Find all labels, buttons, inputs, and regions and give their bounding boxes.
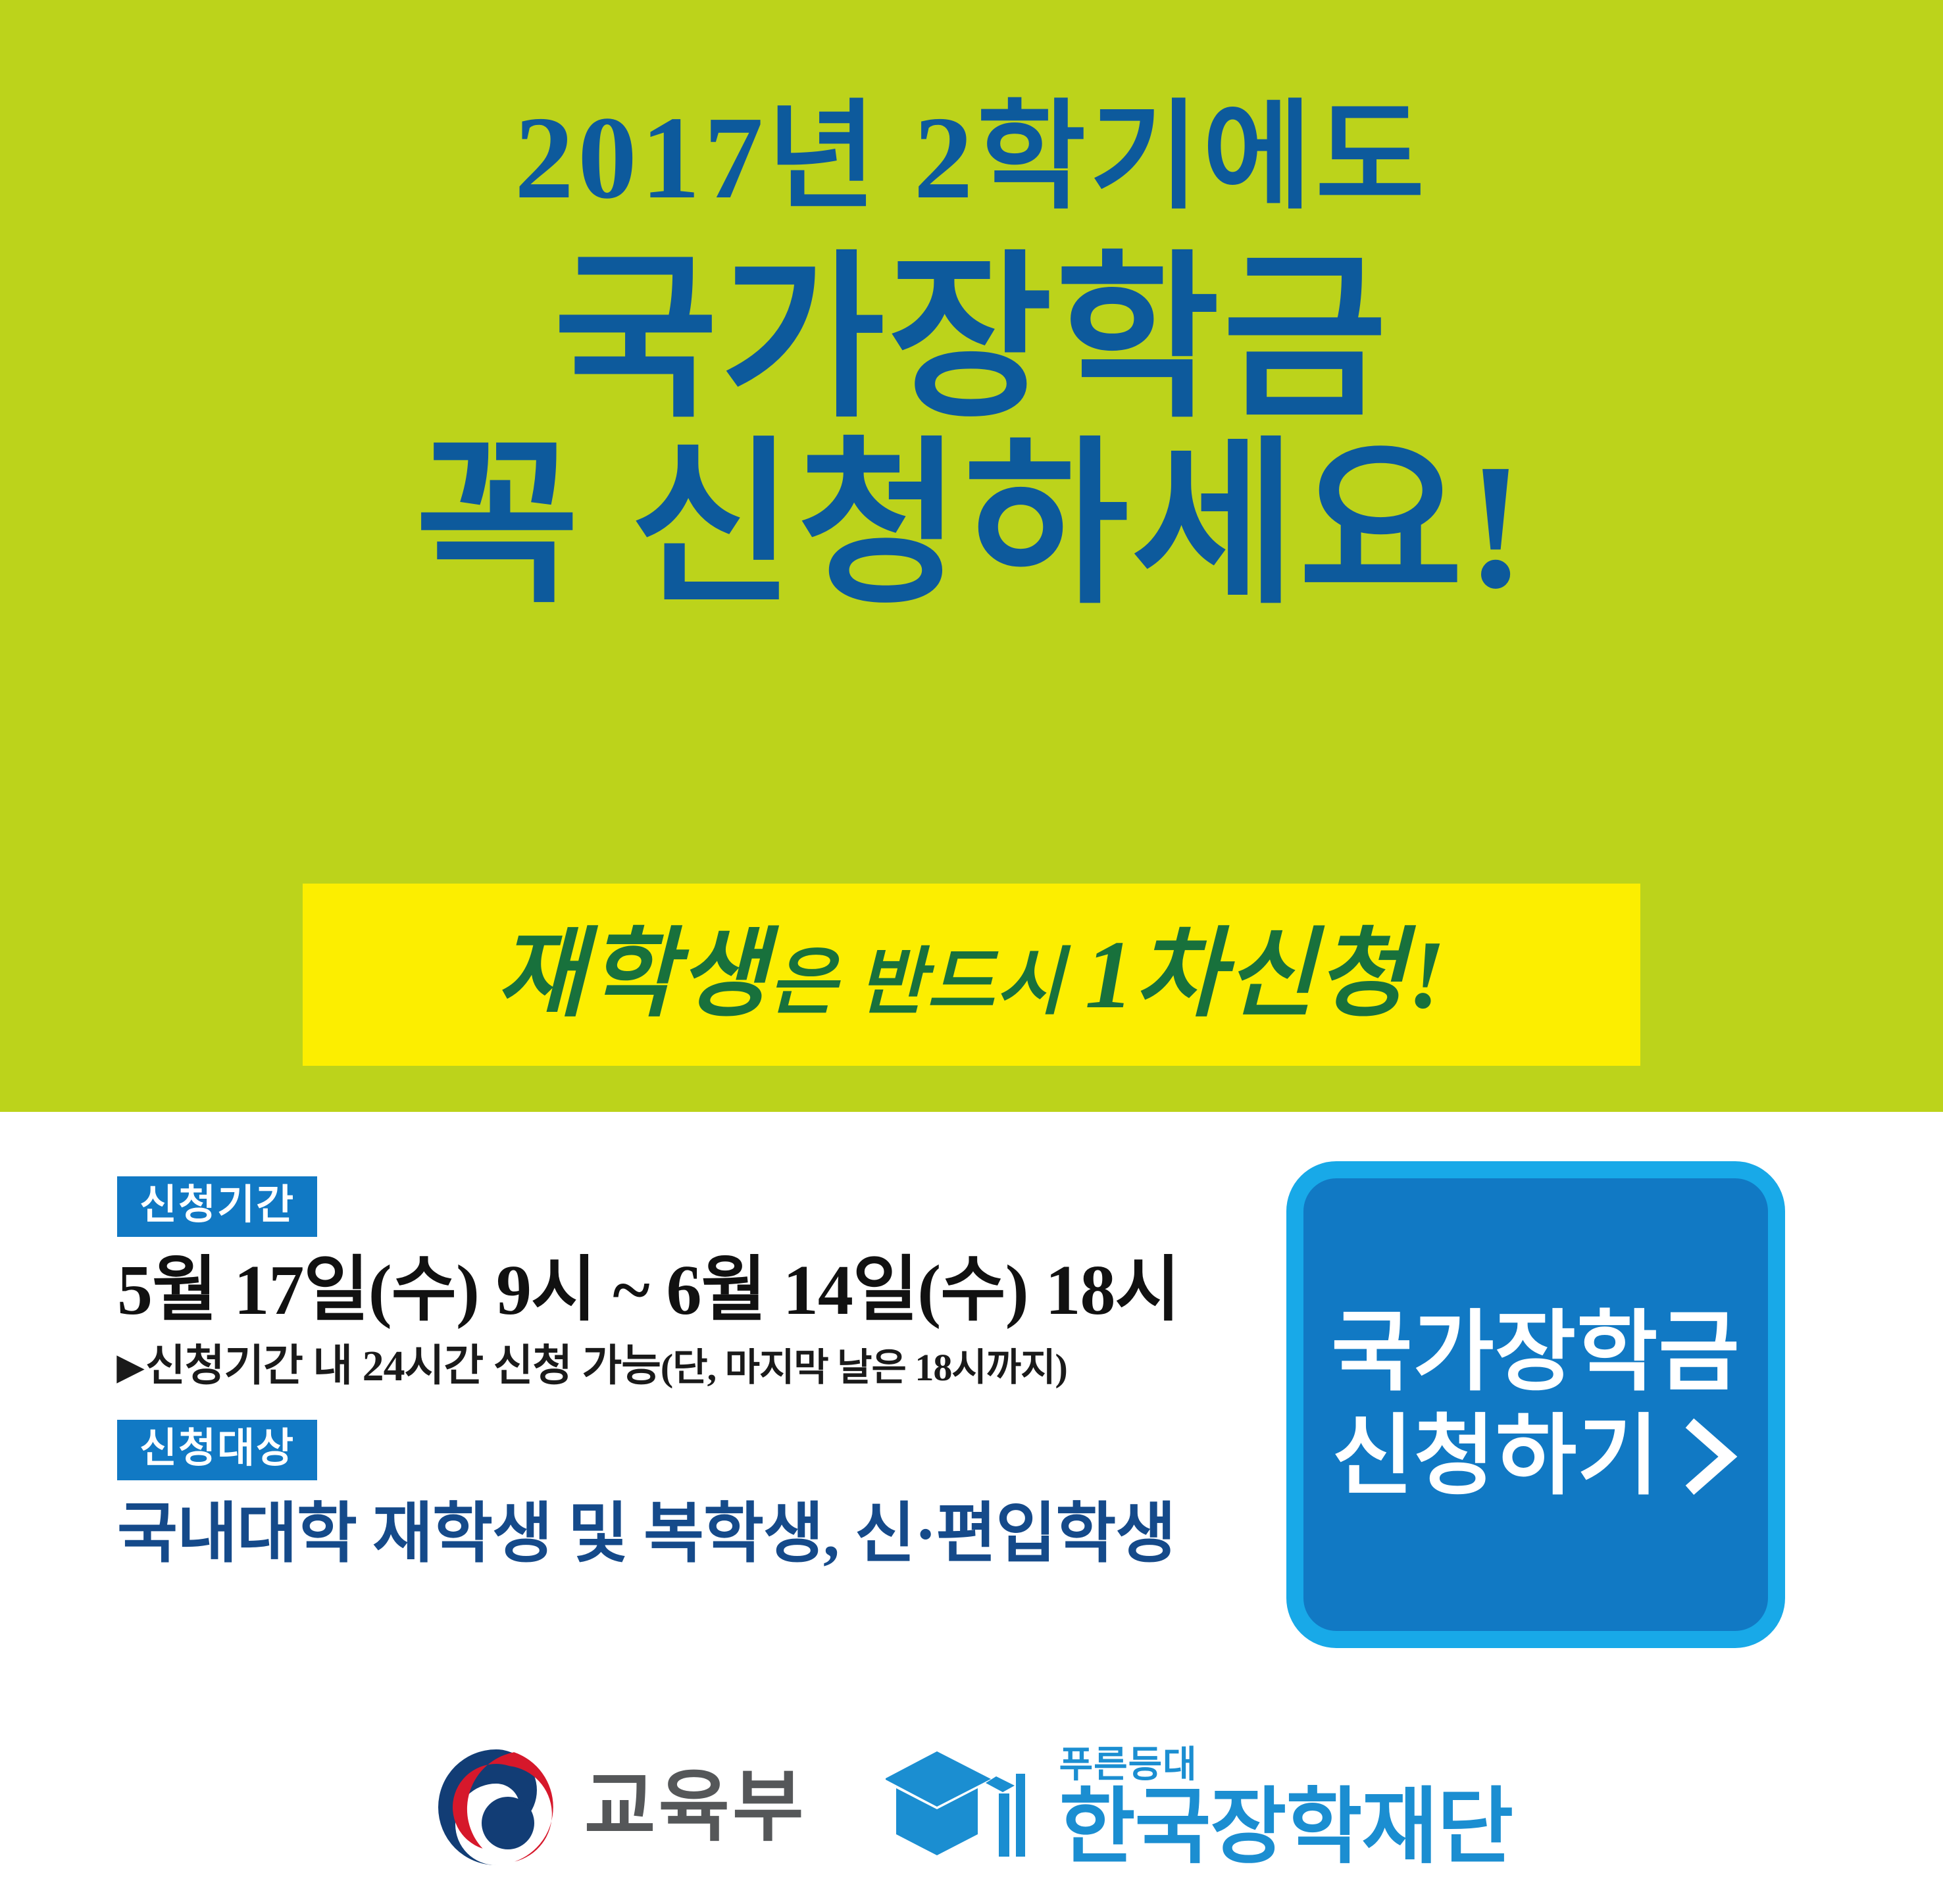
korea-government-taegeuk-icon [430, 1741, 562, 1873]
period-note-main: 신청기간 내 24시간 신청 가능 [145, 1342, 661, 1390]
hero-headline-scholarship: 국가장학금 [553, 249, 1390, 431]
period-note-parenthetical: (단, 마지막 날은 18시까지) [661, 1346, 1067, 1389]
kosaf-logo: 푸른등대 한국장학재단 [886, 1745, 1513, 1870]
application-target-badge: 신청대상 [117, 1420, 317, 1480]
application-target-value: 국내대학 재학생 및 복학생, 신·편입학생 [117, 1496, 1275, 1572]
highlight-part-must: 반드시 [838, 942, 1085, 1024]
bullet-arrow-icon: ▶ [117, 1349, 143, 1386]
cta-label-scholarship: 국가장학금 [1331, 1301, 1740, 1405]
hero-green-panel: 2017년 2학기에도 국가장학금 꼭 신청하세요! 재학생은 반드시 1차신청… [0, 0, 1943, 1112]
graduation-cap-icon [886, 1745, 1037, 1870]
apply-scholarship-button[interactable]: 국가장학금 신청하기 [1286, 1161, 1785, 1648]
highlight-part-particle: 은 [769, 942, 838, 1024]
highlight-yellow-bar: 재학생은 반드시 1차신청! [303, 884, 1640, 1066]
highlight-text: 재학생은 반드시 1차신청! [496, 926, 1447, 1024]
cta-label-apply: 신청하기 [1332, 1405, 1659, 1509]
scholarship-banner: 2017년 2학기에도 국가장학금 꼭 신청하세요! 재학생은 반드시 1차신청… [0, 0, 1943, 1904]
cta-label-apply-row: 신청하기 [1332, 1405, 1739, 1509]
application-period-note: ▶신청기간 내 24시간 신청 가능(단, 마지막 날은 18시까지) [117, 1340, 1275, 1392]
ministry-of-education-name: 교육부 [584, 1768, 807, 1846]
ministry-of-education-logo: 교육부 [430, 1741, 807, 1873]
hero-year-line: 2017년 2학기에도 [515, 99, 1428, 217]
info-column: 신청기간 5월 17일(수) 9시 ~ 6월 14일(수) 18시 ▶신청기간 … [117, 1176, 1275, 1572]
kosaf-name: 한국장학재단 [1059, 1786, 1513, 1868]
highlight-part-first-round: 1차신청! [1085, 921, 1447, 1029]
kosaf-sub-brand: 푸른등대 [1059, 1746, 1513, 1783]
kosaf-text-block: 푸른등대 한국장학재단 [1059, 1746, 1513, 1868]
hero-headline-apply: 꼭 신청하세요! [415, 435, 1528, 617]
highlight-part-enrolled: 재학생 [496, 921, 769, 1029]
footer-logos: 교육부 푸른등대 한국장학재단 [0, 1711, 1943, 1904]
chevron-right-icon [1679, 1418, 1740, 1495]
application-period-value: 5월 17일(수) 9시 ~ 6월 14일(수) 18시 [117, 1251, 1275, 1331]
application-period-badge: 신청기간 [117, 1176, 317, 1237]
target-badge-wrap: 신청대상 [117, 1420, 1275, 1480]
